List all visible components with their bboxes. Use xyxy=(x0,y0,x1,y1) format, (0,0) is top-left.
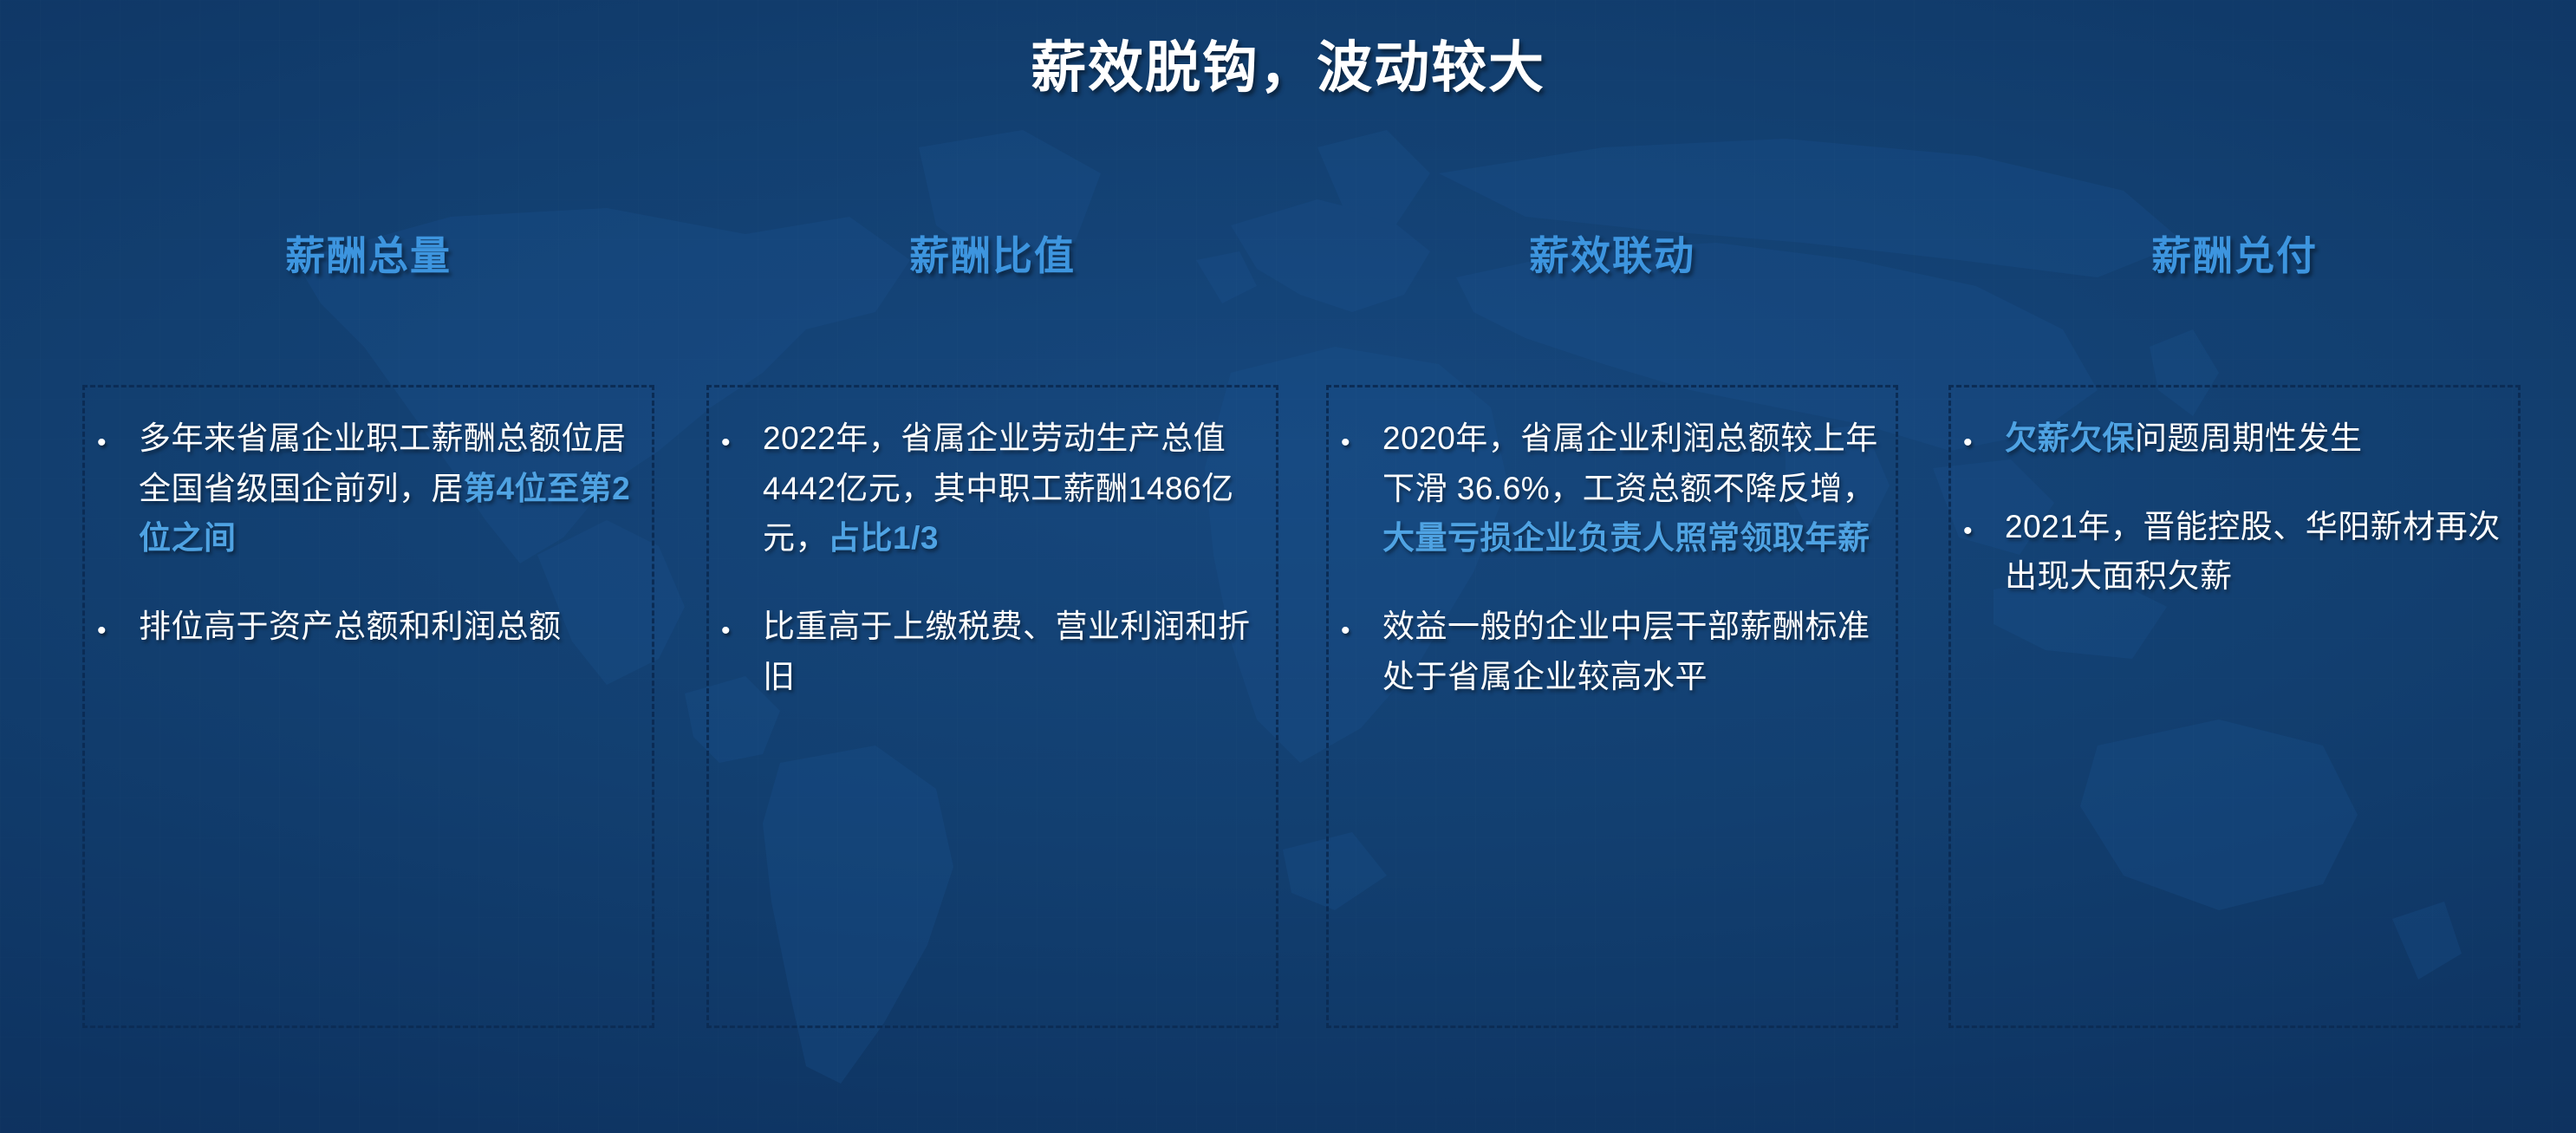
bullet-dot-icon xyxy=(721,413,763,456)
bullet-dot-icon xyxy=(721,602,763,644)
column-header-2: 薪酬比值 xyxy=(706,232,1278,280)
list-item: 2022年，省属企业劳动生产总值 4442亿元，其中职工薪酬1486亿元，占比1… xyxy=(721,413,1260,563)
list-item: 比重高于上缴税费、营业利润和折旧 xyxy=(721,602,1260,701)
column-header-3: 薪效联动 xyxy=(1326,232,1898,280)
bullet-text: 排位高于资产总额和利润总额 xyxy=(139,602,636,652)
bullet-text: 比重高于上缴税费、营业利润和折旧 xyxy=(763,602,1260,701)
column-4: 薪酬兑付 欠薪欠保问题周期性发生 2021年，晋能控股、华阳新材再次出现大面积欠… xyxy=(1948,0,2521,1133)
bullet-list-2: 2022年，省属企业劳动生产总值 4442亿元，其中职工薪酬1486亿元，占比1… xyxy=(721,413,1260,702)
column-box-4: 欠薪欠保问题周期性发生 2021年，晋能控股、华阳新材再次出现大面积欠薪 xyxy=(1948,385,2521,1028)
bullet-list-4: 欠薪欠保问题周期性发生 2021年，晋能控股、华阳新材再次出现大面积欠薪 xyxy=(1963,413,2502,602)
column-header-4: 薪酬兑付 xyxy=(1948,232,2521,280)
normal-text: 比重高于上缴税费、营业利润和折旧 xyxy=(763,609,1251,694)
normal-text: 排位高于资产总额和利润总额 xyxy=(139,609,562,644)
bullet-dot-icon xyxy=(97,413,139,456)
column-1: 薪酬总量 多年来省属企业职工薪酬总额位居全国省级国企前列，居第4位至第2位之间 … xyxy=(82,0,654,1133)
bullet-text: 多年来省属企业职工薪酬总额位居全国省级国企前列，居第4位至第2位之间 xyxy=(139,413,636,563)
bullet-dot-icon xyxy=(1963,413,2005,456)
list-item: 效益一般的企业中层干部薪酬标准处于省属企业较高水平 xyxy=(1341,602,1880,701)
list-item: 2021年，晋能控股、华阳新材再次出现大面积欠薪 xyxy=(1963,502,2502,602)
bullet-dot-icon xyxy=(1341,602,1382,644)
column-header-1: 薪酬总量 xyxy=(82,232,654,280)
list-item: 多年来省属企业职工薪酬总额位居全国省级国企前列，居第4位至第2位之间 xyxy=(97,413,636,563)
columns-container: 薪酬总量 多年来省属企业职工薪酬总额位居全国省级国企前列，居第4位至第2位之间 … xyxy=(0,0,2576,1133)
bullet-dot-icon xyxy=(1341,413,1382,456)
slide-canvas: 薪效脱钩，波动较大 薪酬总量 多年来省属企业职工薪酬总额位居全国省级国企前列，居… xyxy=(0,0,2576,1133)
bullet-dot-icon xyxy=(97,602,139,644)
list-item: 欠薪欠保问题周期性发生 xyxy=(1963,413,2502,464)
highlighted-text: 占比1/3 xyxy=(828,520,939,556)
bullet-text: 欠薪欠保问题周期性发生 xyxy=(2005,413,2502,464)
bullet-list-1: 多年来省属企业职工薪酬总额位居全国省级国企前列，居第4位至第2位之间 排位高于资… xyxy=(97,413,636,652)
normal-text: 问题周期性发生 xyxy=(2135,420,2363,456)
bullet-dot-icon xyxy=(1963,502,2005,544)
column-2: 薪酬比值 2022年，省属企业劳动生产总值 4442亿元，其中职工薪酬1486亿… xyxy=(706,0,1278,1133)
highlighted-text: 欠薪欠保 xyxy=(2005,420,2135,456)
list-item: 2020年，省属企业利润总额较上年下滑 36.6%，工资总额不降反增，大量亏损企… xyxy=(1341,413,1880,563)
bullet-text: 2022年，省属企业劳动生产总值 4442亿元，其中职工薪酬1486亿元，占比1… xyxy=(763,413,1260,563)
normal-text: 2020年，省属企业利润总额较上年下滑 36.6%，工资总额不降反增， xyxy=(1382,420,1878,506)
list-item: 排位高于资产总额和利润总额 xyxy=(97,602,636,652)
column-3: 薪效联动 2020年，省属企业利润总额较上年下滑 36.6%，工资总额不降反增，… xyxy=(1326,0,1898,1133)
bullet-text: 2020年，省属企业利润总额较上年下滑 36.6%，工资总额不降反增，大量亏损企… xyxy=(1382,413,1880,563)
bullet-text: 效益一般的企业中层干部薪酬标准处于省属企业较高水平 xyxy=(1382,602,1880,701)
bullet-text: 2021年，晋能控股、华阳新材再次出现大面积欠薪 xyxy=(2005,502,2502,602)
column-box-2: 2022年，省属企业劳动生产总值 4442亿元，其中职工薪酬1486亿元，占比1… xyxy=(706,385,1278,1028)
normal-text: 2021年，晋能控股、华阳新材再次出现大面积欠薪 xyxy=(2005,509,2501,595)
normal-text: 效益一般的企业中层干部薪酬标准处于省属企业较高水平 xyxy=(1382,609,1870,694)
bullet-list-3: 2020年，省属企业利润总额较上年下滑 36.6%，工资总额不降反增，大量亏损企… xyxy=(1341,413,1880,702)
column-box-3: 2020年，省属企业利润总额较上年下滑 36.6%，工资总额不降反增，大量亏损企… xyxy=(1326,385,1898,1028)
column-box-1: 多年来省属企业职工薪酬总额位居全国省级国企前列，居第4位至第2位之间 排位高于资… xyxy=(82,385,654,1028)
highlighted-text: 大量亏损企业负责人照常领取年薪 xyxy=(1382,520,1870,556)
